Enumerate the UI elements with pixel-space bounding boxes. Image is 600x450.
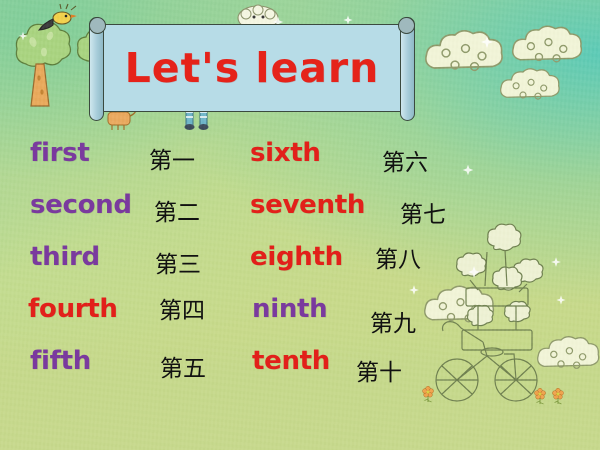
word-en-third: third [30, 242, 100, 272]
word-en-second: second [30, 190, 132, 220]
vocab-row: third 第三 eighth 第八 [0, 236, 600, 288]
word-en-fifth: fifth [30, 346, 91, 376]
word-en-fourth: fourth [28, 294, 118, 324]
vocab-row: fourth 第四 ninth 第九 [0, 288, 600, 340]
vocab-row: first 第一 sixth 第六 [0, 132, 600, 184]
word-en-sixth: sixth [250, 138, 321, 168]
word-zh-seventh: 第七 [400, 195, 446, 229]
word-zh-tenth: 第十 [356, 353, 402, 387]
slide-canvas: Let's learn first 第一 sixth 第六 second 第二 … [0, 0, 600, 450]
vocab-row: fifth 第五 tenth 第十 [0, 340, 600, 392]
word-en-seventh: seventh [250, 190, 365, 220]
cloud-icon-2 [513, 26, 582, 62]
word-en-first: first [30, 138, 89, 168]
star-icon-3 [481, 36, 493, 48]
word-zh-fourth: 第四 [159, 291, 205, 325]
vocab-row: second 第二 seventh 第七 [0, 184, 600, 236]
cloud-icon-3 [501, 69, 559, 99]
bird-icon [39, 4, 77, 30]
word-zh-eighth: 第八 [375, 240, 421, 274]
word-zh-second: 第二 [154, 193, 200, 227]
word-zh-ninth: 第九 [370, 304, 416, 338]
word-zh-first: 第一 [149, 141, 195, 175]
page-title: Let's learn [97, 25, 407, 111]
word-en-eighth: eighth [250, 242, 343, 272]
word-zh-fifth: 第五 [160, 349, 206, 383]
word-en-ninth: ninth [252, 294, 327, 324]
cloud-icon-1 [426, 31, 502, 71]
title-banner: Let's learn [96, 24, 408, 112]
star-icon-9 [19, 32, 27, 40]
word-zh-third: 第三 [155, 245, 201, 279]
word-en-tenth: tenth [252, 346, 330, 376]
vocabulary-grid: first 第一 sixth 第六 second 第二 seventh 第七 t… [0, 132, 600, 392]
tree-icon-left-large [16, 23, 70, 106]
word-zh-sixth: 第六 [382, 143, 428, 177]
